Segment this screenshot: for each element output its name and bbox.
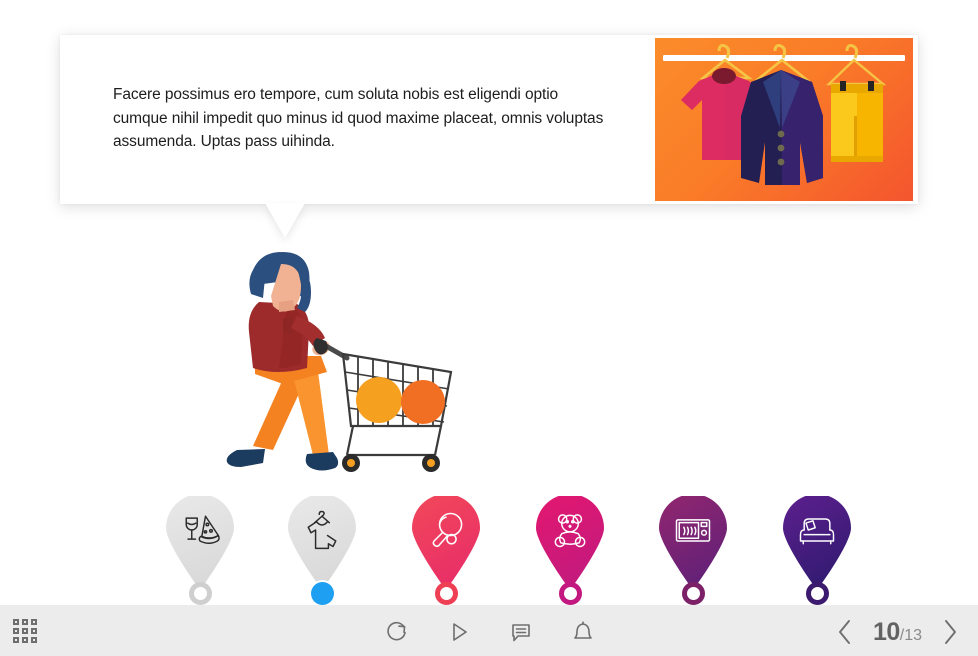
current-page-number: 10 [873,618,900,647]
timeline-marker-4[interactable] [536,496,604,590]
clothing-rack-illustration [655,38,913,201]
comment-button[interactable] [506,619,536,645]
page-counter: 10 /13 [873,618,922,647]
wine-and-pizza-icon [166,500,234,560]
grid-icon [13,619,39,643]
pin-6[interactable] [783,496,851,590]
magnifying-glass-icon [412,500,480,560]
pin-4[interactable] [536,496,604,590]
pin-5[interactable] [659,496,727,590]
prev-slide-button[interactable] [833,617,857,647]
slide-canvas: Facere possimus ero tempore, cum soluta … [0,0,978,656]
microwave-icon [659,500,727,560]
timeline-node-6[interactable] [806,582,829,605]
slide-overview-button[interactable] [10,617,42,645]
tshirt-on-hanger-icon [288,500,356,560]
chevron-left-icon [836,619,854,645]
notifications-button[interactable] [568,619,598,645]
sofa-icon [783,500,851,560]
timeline-node-3[interactable] [435,582,458,605]
player-controls [382,619,598,645]
timeline-marker-2[interactable] [288,496,356,590]
body-text: Facere possimus ero tempore, cum soluta … [113,83,613,154]
timeline [0,465,978,590]
timeline-node-2[interactable] [311,582,334,605]
clothes-svg [655,38,913,201]
play-icon [448,621,470,643]
next-slide-button[interactable] [938,617,962,647]
pagination: 10 /13 [833,615,962,649]
pin-3[interactable] [412,496,480,590]
teddy-bear-icon [536,500,604,560]
timeline-marker-3[interactable] [412,496,480,590]
timeline-node-5[interactable] [682,582,705,605]
pin-1[interactable] [166,496,234,590]
speech-bubble-tail [265,203,305,238]
total-page-count: /13 [900,627,922,645]
timeline-marker-1[interactable] [166,496,234,590]
bell-icon [572,621,594,643]
chevron-right-icon [941,619,959,645]
timeline-node-4[interactable] [559,582,582,605]
shopper-svg [195,250,465,485]
timeline-marker-5[interactable] [659,496,727,590]
replay-button[interactable] [382,619,412,645]
timeline-marker-6[interactable] [783,496,851,590]
content-card: Facere possimus ero tempore, cum soluta … [60,35,918,204]
play-button[interactable] [444,619,474,645]
player-toolbar: 10 /13 [0,605,978,656]
replay-icon [386,621,408,643]
woman-with-shopping-cart-illustration [195,250,465,485]
comment-icon [510,621,532,643]
pin-2[interactable] [288,496,356,590]
timeline-node-1[interactable] [189,582,212,605]
